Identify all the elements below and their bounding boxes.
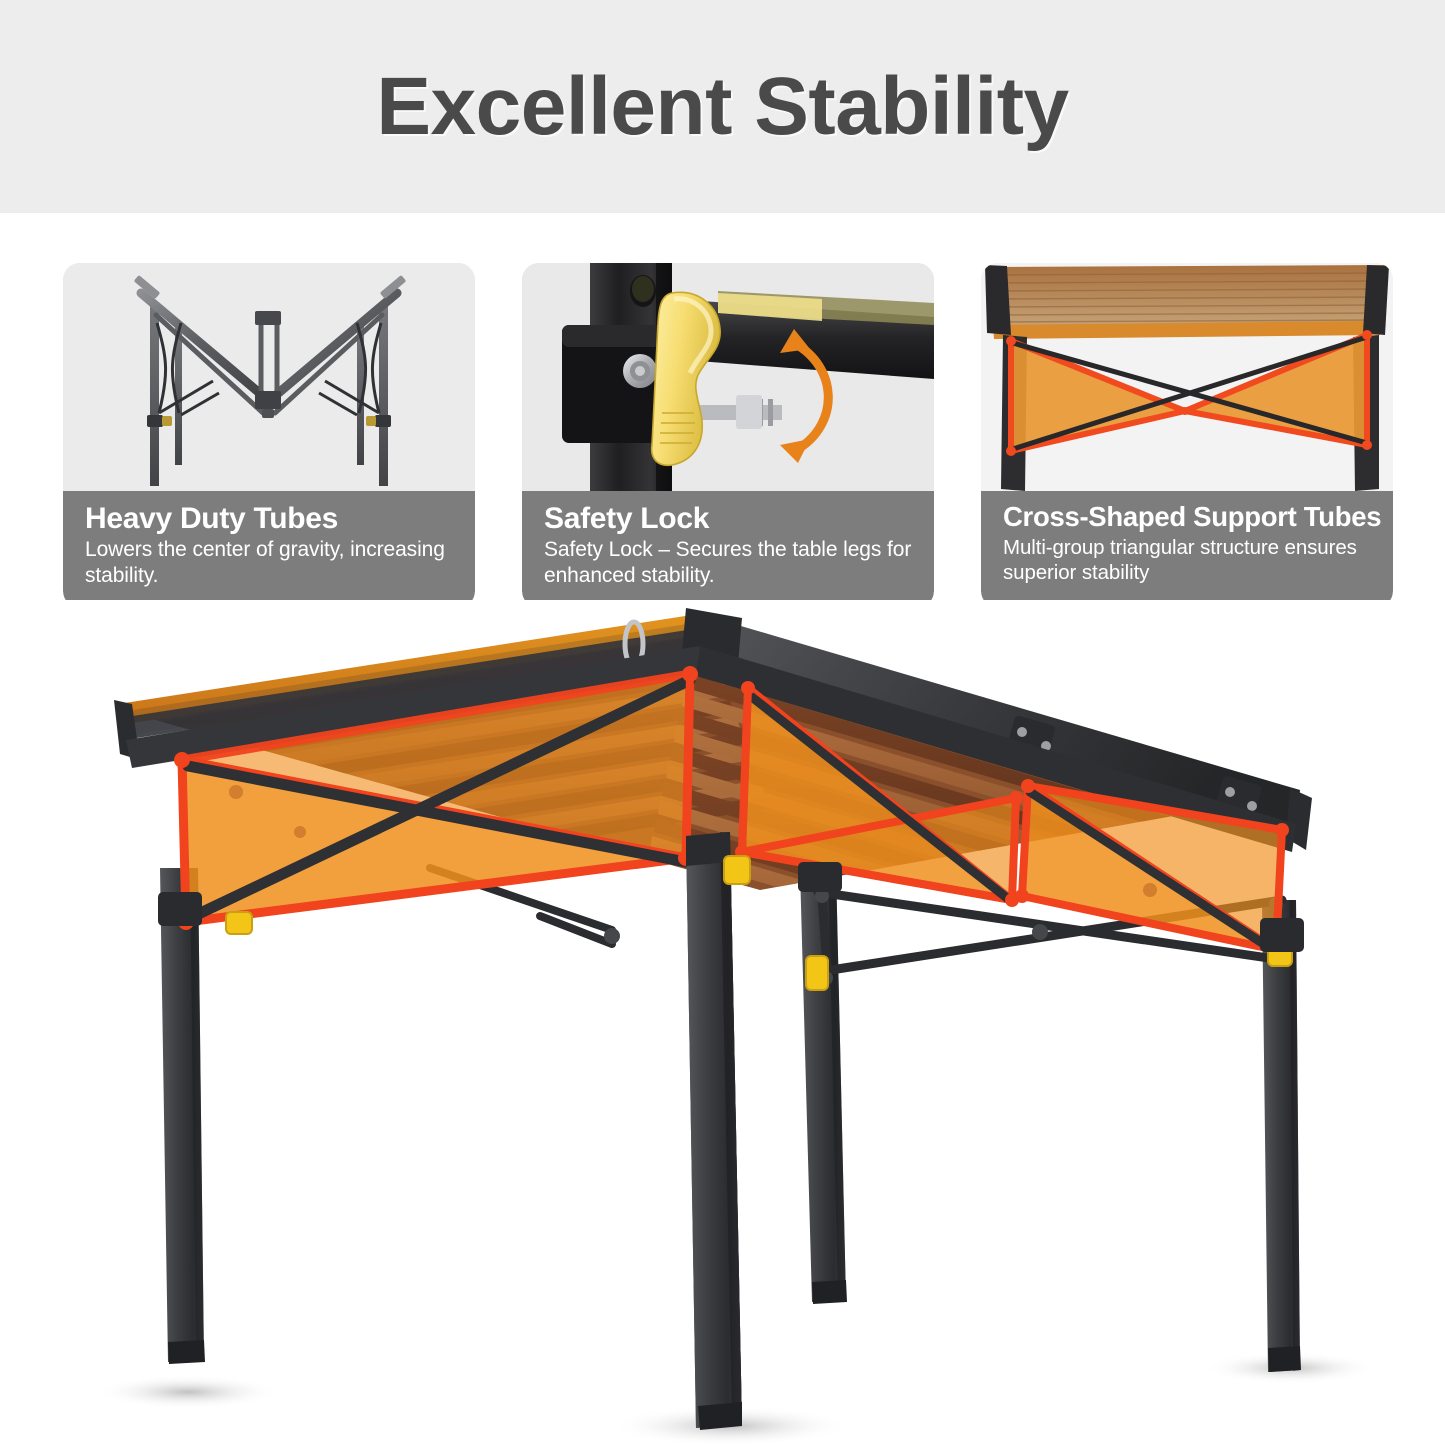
hero-product-image xyxy=(0,600,1445,1445)
folding-frame-illustration xyxy=(63,263,475,494)
card-description: Safety Lock – Secures the table legs for… xyxy=(544,537,914,588)
card-caption-safety-lock: Safety Lock Safety Lock – Secures the ta… xyxy=(522,491,934,608)
card-title: Safety Lock xyxy=(544,503,914,534)
header-band: Excellent Stability xyxy=(0,0,1445,213)
card-caption-cross-shaped-support-tubes: Cross-Shaped Support Tubes Multi-group t… xyxy=(981,491,1393,608)
card-media-heavy-duty-tubes xyxy=(63,263,475,494)
card-caption-heavy-duty-tubes: Heavy Duty Tubes Lowers the center of gr… xyxy=(63,491,475,608)
feature-card-heavy-duty-tubes[interactable]: Heavy Duty Tubes Lowers the center of gr… xyxy=(63,263,475,608)
card-description: Lowers the center of gravity, increasing… xyxy=(85,537,455,588)
card-title: Heavy Duty Tubes xyxy=(85,503,455,534)
card-title: Cross-Shaped Support Tubes xyxy=(1003,503,1373,532)
card-description: Multi-group triangular structure ensures… xyxy=(1003,535,1373,585)
feature-cards-row: Heavy Duty Tubes Lowers the center of gr… xyxy=(63,263,1385,608)
page-title: Excellent Stability xyxy=(376,66,1068,148)
feature-card-cross-shaped-support-tubes[interactable]: Cross-Shaped Support Tubes Multi-group t… xyxy=(981,263,1393,608)
safety-lock-illustration xyxy=(522,263,934,494)
feature-card-safety-lock[interactable]: Safety Lock Safety Lock – Secures the ta… xyxy=(522,263,934,608)
card-media-cross-shaped-support-tubes xyxy=(981,263,1393,494)
card-media-safety-lock xyxy=(522,263,934,494)
folding-table-illustration xyxy=(0,600,1445,1445)
cross-support-illustration xyxy=(981,263,1393,494)
infographic-page: Excellent Stability xyxy=(0,0,1445,1445)
